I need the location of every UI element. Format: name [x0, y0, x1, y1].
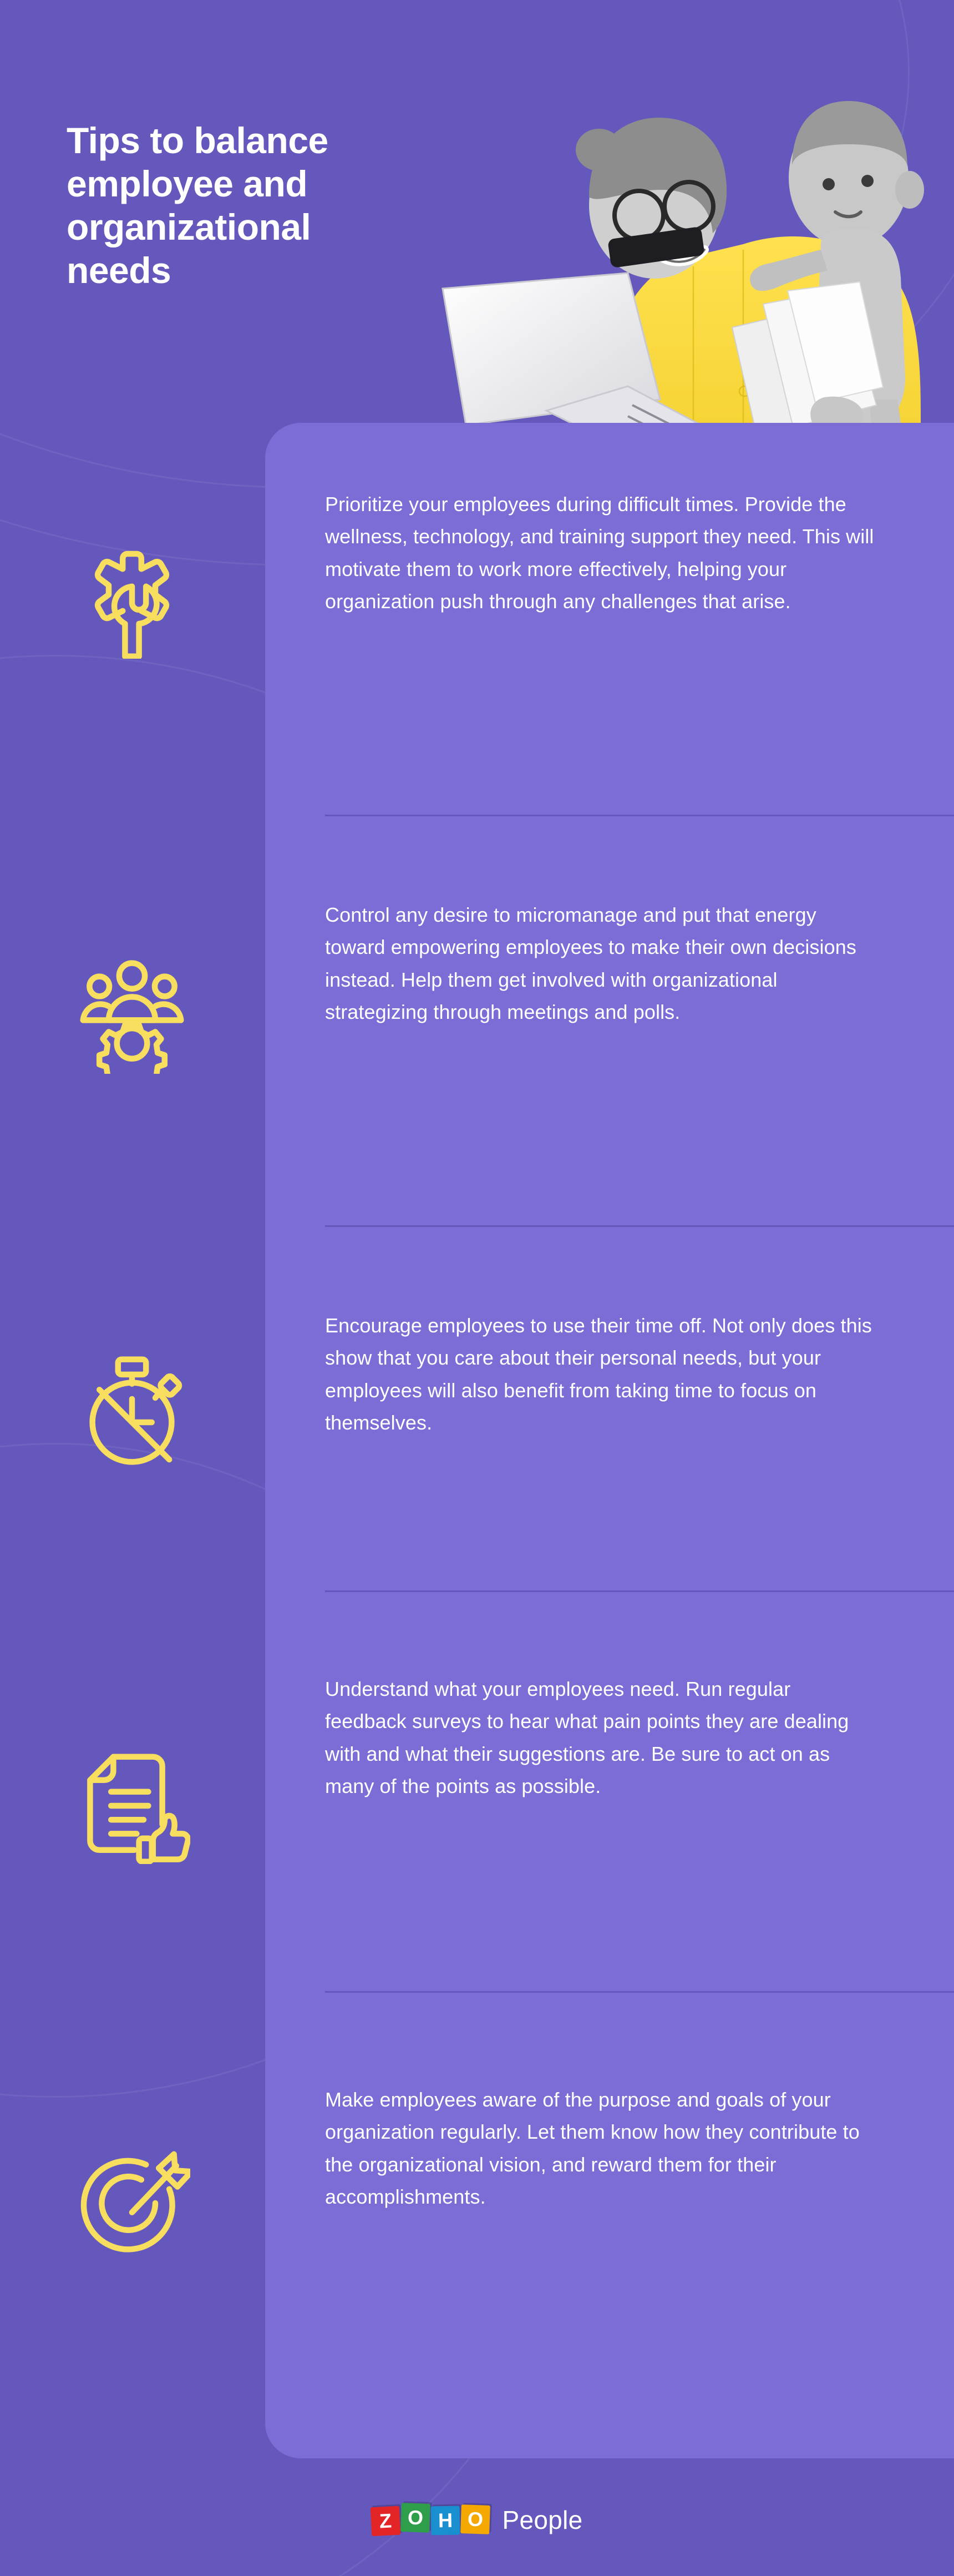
brand-product-name: People [502, 2505, 582, 2535]
zoho-block-o-1: O [401, 2503, 431, 2533]
divider [325, 1590, 954, 1592]
hero-photo [433, 67, 954, 433]
target-arrow-icon [60, 2131, 204, 2275]
survey-thumbsup-icon [60, 1734, 204, 1878]
infographic-canvas: Tips to balance employee and organizatio… [0, 0, 954, 2576]
page-title: Tips to balance employee and organizatio… [67, 119, 444, 292]
tip-text: Understand what your employees need. Run… [325, 1673, 874, 1802]
footer: Z O H O People [0, 2464, 954, 2576]
header: Tips to balance employee and organizatio… [0, 0, 954, 427]
zoho-block-z: Z [371, 2506, 401, 2537]
tip-text: Control any desire to micromanage and pu… [325, 899, 874, 1028]
stopwatch-off-icon [60, 1338, 204, 1483]
team-gear-icon [60, 943, 204, 1088]
tip-text: Make employees aware of the purpose and … [325, 2084, 874, 2213]
divider [325, 1991, 954, 1993]
brand-lockup[interactable]: Z O H O People [371, 2505, 582, 2535]
tip-text: Prioritize your employees during difficu… [325, 488, 874, 618]
gear-wrench-icon [60, 528, 204, 673]
zoho-block-o-2: O [461, 2504, 491, 2534]
tip-text: Encourage employees to use their time of… [325, 1310, 874, 1439]
divider [325, 815, 954, 816]
zoho-logo-icon: Z O H O [371, 2506, 490, 2534]
divider [325, 1225, 954, 1227]
zoho-block-h: H [431, 2506, 460, 2535]
